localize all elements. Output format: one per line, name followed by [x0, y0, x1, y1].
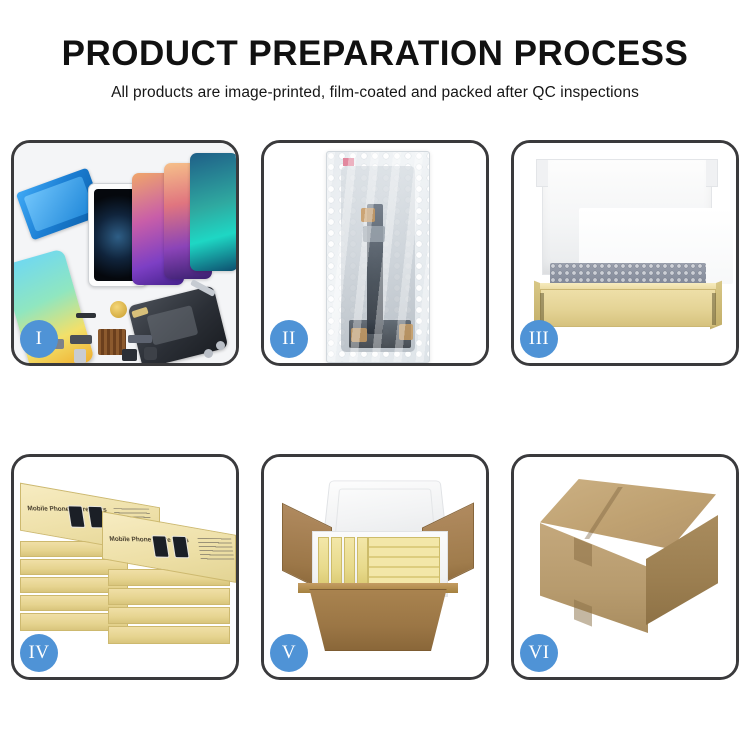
part-vibrator-icon [144, 347, 157, 360]
step-badge-1: I [20, 320, 58, 358]
inner-yellow-box-4 [357, 537, 368, 589]
product-preparation-page: PRODUCT PREPARATION PROCESS All products… [0, 0, 750, 750]
page-title: PRODUCT PREPARATION PROCESS [0, 36, 750, 73]
phone-back-housing-icon [128, 285, 229, 363]
tape-patch-three-icon [399, 324, 413, 340]
step-badge-4: IV [20, 634, 58, 672]
lid-tab-right-icon [706, 159, 718, 187]
part-screw-icon [204, 349, 213, 358]
inner-yellow-box-1 [318, 537, 329, 589]
carton-body-icon [300, 589, 456, 651]
process-step-panel-1[interactable]: I [11, 140, 239, 366]
process-step-panel-5[interactable]: V [261, 454, 489, 680]
white-foam-lid-icon [542, 159, 712, 275]
stack-box-r2 [108, 588, 230, 605]
screen-flex-cable-icon [367, 204, 383, 334]
part-battery-connector-icon [76, 313, 96, 318]
box-spec-lines-front [197, 538, 234, 561]
inner-yellow-box-stack [368, 537, 440, 589]
step-badge-3: III [520, 320, 558, 358]
part-sim-tray-icon [74, 349, 86, 363]
pink-qc-sticker-icon [343, 158, 354, 166]
kraft-box-front-icon [540, 289, 716, 327]
process-step-panel-4[interactable]: Mobile Phone Spare Parts Mobile Phone Sp… [11, 454, 239, 680]
lid-tab-left-icon [536, 159, 548, 187]
part-screw-two-icon [216, 341, 225, 350]
page-subtitle: All products are image-printed, film-coa… [0, 84, 750, 102]
process-step-panel-6[interactable]: VI [511, 454, 739, 680]
part-ribbon-icon [128, 335, 152, 343]
process-step-panel-3[interactable]: III [511, 140, 739, 366]
process-steps-grid: I II [11, 140, 739, 680]
bubble-wrap-bag-icon [326, 151, 430, 363]
part-speaker-icon [110, 301, 127, 318]
part-flex-cable-icon [70, 335, 92, 344]
process-step-panel-2[interactable]: II [261, 140, 489, 366]
box-corner-right-icon [712, 293, 716, 325]
inner-yellow-box-2 [331, 537, 342, 589]
stack-box-r4 [108, 626, 230, 644]
tape-patch-one-icon [361, 208, 375, 222]
step-badge-6: VI [520, 634, 558, 672]
part-camera-module-icon [122, 349, 137, 361]
teal-phone-icon [190, 153, 236, 271]
inner-yellow-box-3 [344, 537, 355, 589]
screen-connector-icon [363, 226, 385, 242]
stack-box-r3 [108, 607, 230, 624]
page-header: PRODUCT PREPARATION PROCESS All products… [0, 0, 750, 102]
step-badge-2: II [270, 320, 308, 358]
tape-patch-two-icon [351, 328, 367, 342]
step-badge-5: V [270, 634, 308, 672]
